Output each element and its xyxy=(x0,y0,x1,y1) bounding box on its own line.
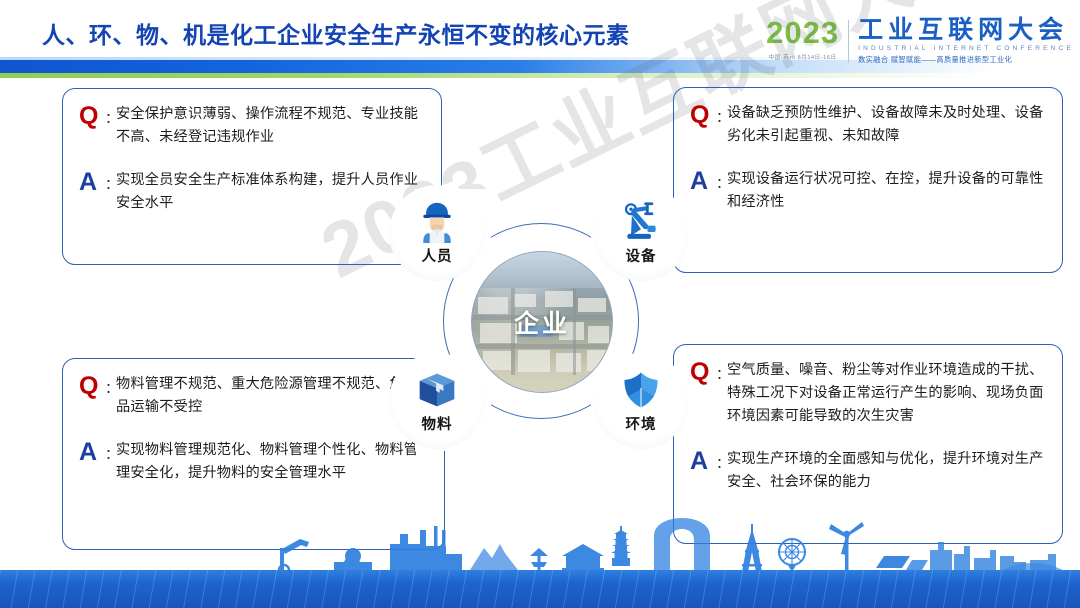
qa-question-row: Q ： 空气质量、噪音、粉尘等对作业环境造成的干扰、特殊工况下对设备正常运行产生… xyxy=(690,359,1046,428)
slide-canvas: 人、环、物、机是化工企业安全生产永恒不变的核心元素 2023 中国·苏州 8月1… xyxy=(0,0,1080,608)
skyline-bridge xyxy=(1000,563,1066,574)
qa-spacer xyxy=(79,155,425,169)
node-label: 人员 xyxy=(422,245,453,266)
question-text: 物料管理不规范、重大危险源管理不规范、危化品运输不受控 xyxy=(116,373,428,419)
question-text: 空气质量、噪音、粉尘等对作业环境造成的干扰、特殊工况下对设备正常运行产生的影响、… xyxy=(727,359,1046,428)
question-text: 安全保护意识薄弱、操作流程不规范、专业技能不高、未经登记违规作业 xyxy=(116,103,425,149)
answer-text: 实现物料管理规范化、物料管理个性化、物料管理安全化，提升物料的安全管理水平 xyxy=(116,439,428,485)
enterprise-centre-circle[interactable]: 企业 xyxy=(471,251,613,393)
question-colon: ： xyxy=(105,378,116,398)
node-equipment[interactable]: 设备 xyxy=(593,185,689,281)
skyline-temple xyxy=(562,544,604,572)
node-environment[interactable]: 环境 xyxy=(593,353,689,449)
question-marker: Q xyxy=(690,103,716,128)
page-title: 人、环、物、机是化工企业安全生产永恒不变的核心元素 xyxy=(42,16,630,50)
logo-year-subtitle: 中国·苏州 8月14日-16日 xyxy=(769,53,837,61)
skyline-machinery xyxy=(322,548,388,574)
robot-arm-icon xyxy=(619,201,663,243)
answer-marker: A xyxy=(79,440,105,465)
node-material[interactable]: 物料 xyxy=(389,353,485,449)
logo-year-block: 2023 中国·苏州 8月14日-16日 xyxy=(766,17,848,61)
answer-marker: A xyxy=(79,170,105,195)
qa-spacer xyxy=(690,154,1046,168)
qa-spacer xyxy=(690,434,1046,448)
answer-text: 实现生产环境的全面感知与优化，提升环境对生产安全、社会环保的能力 xyxy=(727,448,1046,494)
node-label: 环境 xyxy=(626,413,657,434)
enterprise-label: 企业 xyxy=(472,252,612,392)
logo-name-block: 工业互联网大会 INDUSTRIAL INTERNET CONFERENCE 数… xyxy=(849,17,1074,65)
answer-colon: ： xyxy=(716,453,727,473)
question-marker: Q xyxy=(79,104,105,129)
question-colon: ： xyxy=(716,364,727,384)
qa-spacer xyxy=(79,425,428,439)
node-label: 设备 xyxy=(626,245,657,266)
qa-answer-row: A ： 实现全员安全生产标准体系构建，提升人员作业安全水平 xyxy=(79,169,425,215)
conference-logo: 2023 中国·苏州 8月14日-16日 工业互联网大会 INDUSTRIAL … xyxy=(766,17,1074,65)
answer-marker: A xyxy=(690,169,716,194)
skyline-bridge-cluster xyxy=(470,544,518,570)
skyline-solar-panels xyxy=(876,556,928,570)
question-colon: ： xyxy=(716,107,727,127)
logo-name-en: INDUSTRIAL INTERNET CONFERENCE xyxy=(858,45,1074,52)
node-label: 物料 xyxy=(422,413,453,434)
question-text: 设备缺乏预防性维护、设备故障未及时处理、设备劣化未引起重视、未知故障 xyxy=(727,102,1046,148)
qa-box-equipment[interactable]: Q ： 设备缺乏预防性维护、设备故障未及时处理、设备劣化未引起重视、未知故障 A… xyxy=(673,87,1063,273)
footer-sea-band xyxy=(0,570,1080,608)
node-personnel[interactable]: 人员 xyxy=(389,185,485,281)
question-marker: Q xyxy=(690,360,716,385)
qa-answer-row: A ： 实现生产环境的全面感知与优化，提升环境对生产安全、社会环保的能力 xyxy=(690,448,1046,494)
answer-colon: ： xyxy=(105,174,116,194)
qa-box-material[interactable]: Q ： 物料管理不规范、重大危险源管理不规范、危化品运输不受控 A ： 实现物料… xyxy=(62,358,445,550)
shield-leaf-icon xyxy=(619,369,663,411)
box-icon xyxy=(415,369,459,411)
question-marker: Q xyxy=(79,374,105,399)
worker-icon xyxy=(415,201,459,243)
qa-question-row: Q ： 物料管理不规范、重大危险源管理不规范、危化品运输不受控 xyxy=(79,373,428,419)
qa-question-row: Q ： 安全保护意识薄弱、操作流程不规范、专业技能不高、未经登记违规作业 xyxy=(79,103,425,149)
core-elements-diagram: 企业 人员 xyxy=(395,195,685,445)
footer-sea-texture xyxy=(0,570,1080,608)
qa-question-row: Q ： 设备缺乏预防性维护、设备故障未及时处理、设备劣化未引起重视、未知故障 xyxy=(690,102,1046,148)
qa-answer-row: A ： 实现设备运行状况可控、在控，提升设备的可靠性和经济性 xyxy=(690,168,1046,214)
logo-year: 2023 xyxy=(766,17,839,48)
answer-colon: ： xyxy=(716,173,727,193)
qa-box-environment[interactable]: Q ： 空气质量、噪音、粉尘等对作业环境造成的干扰、特殊工况下对设备正常运行产生… xyxy=(673,344,1063,544)
skyline-far-city xyxy=(930,542,1056,572)
header-green-bar xyxy=(0,73,1080,78)
skyline-pagoda xyxy=(611,526,631,566)
logo-tagline: 数实融合 赋智赋能——高质量推进新型工业化 xyxy=(858,55,1074,65)
answer-text: 实现全员安全生产标准体系构建，提升人员作业安全水平 xyxy=(116,169,425,215)
question-colon: ： xyxy=(105,108,116,128)
qa-answer-row: A ： 实现物料管理规范化、物料管理个性化、物料管理安全化，提升物料的安全管理水… xyxy=(79,439,428,485)
answer-colon: ： xyxy=(105,444,116,464)
skyline-pavilion xyxy=(530,548,548,574)
answer-text: 实现设备运行状况可控、在控，提升设备的可靠性和经济性 xyxy=(727,168,1046,214)
qa-box-personnel[interactable]: Q ： 安全保护意识薄弱、操作流程不规范、专业技能不高、未经登记违规作业 A ：… xyxy=(62,88,442,265)
answer-marker: A xyxy=(690,449,716,474)
logo-name-cn: 工业互联网大会 xyxy=(858,17,1074,43)
